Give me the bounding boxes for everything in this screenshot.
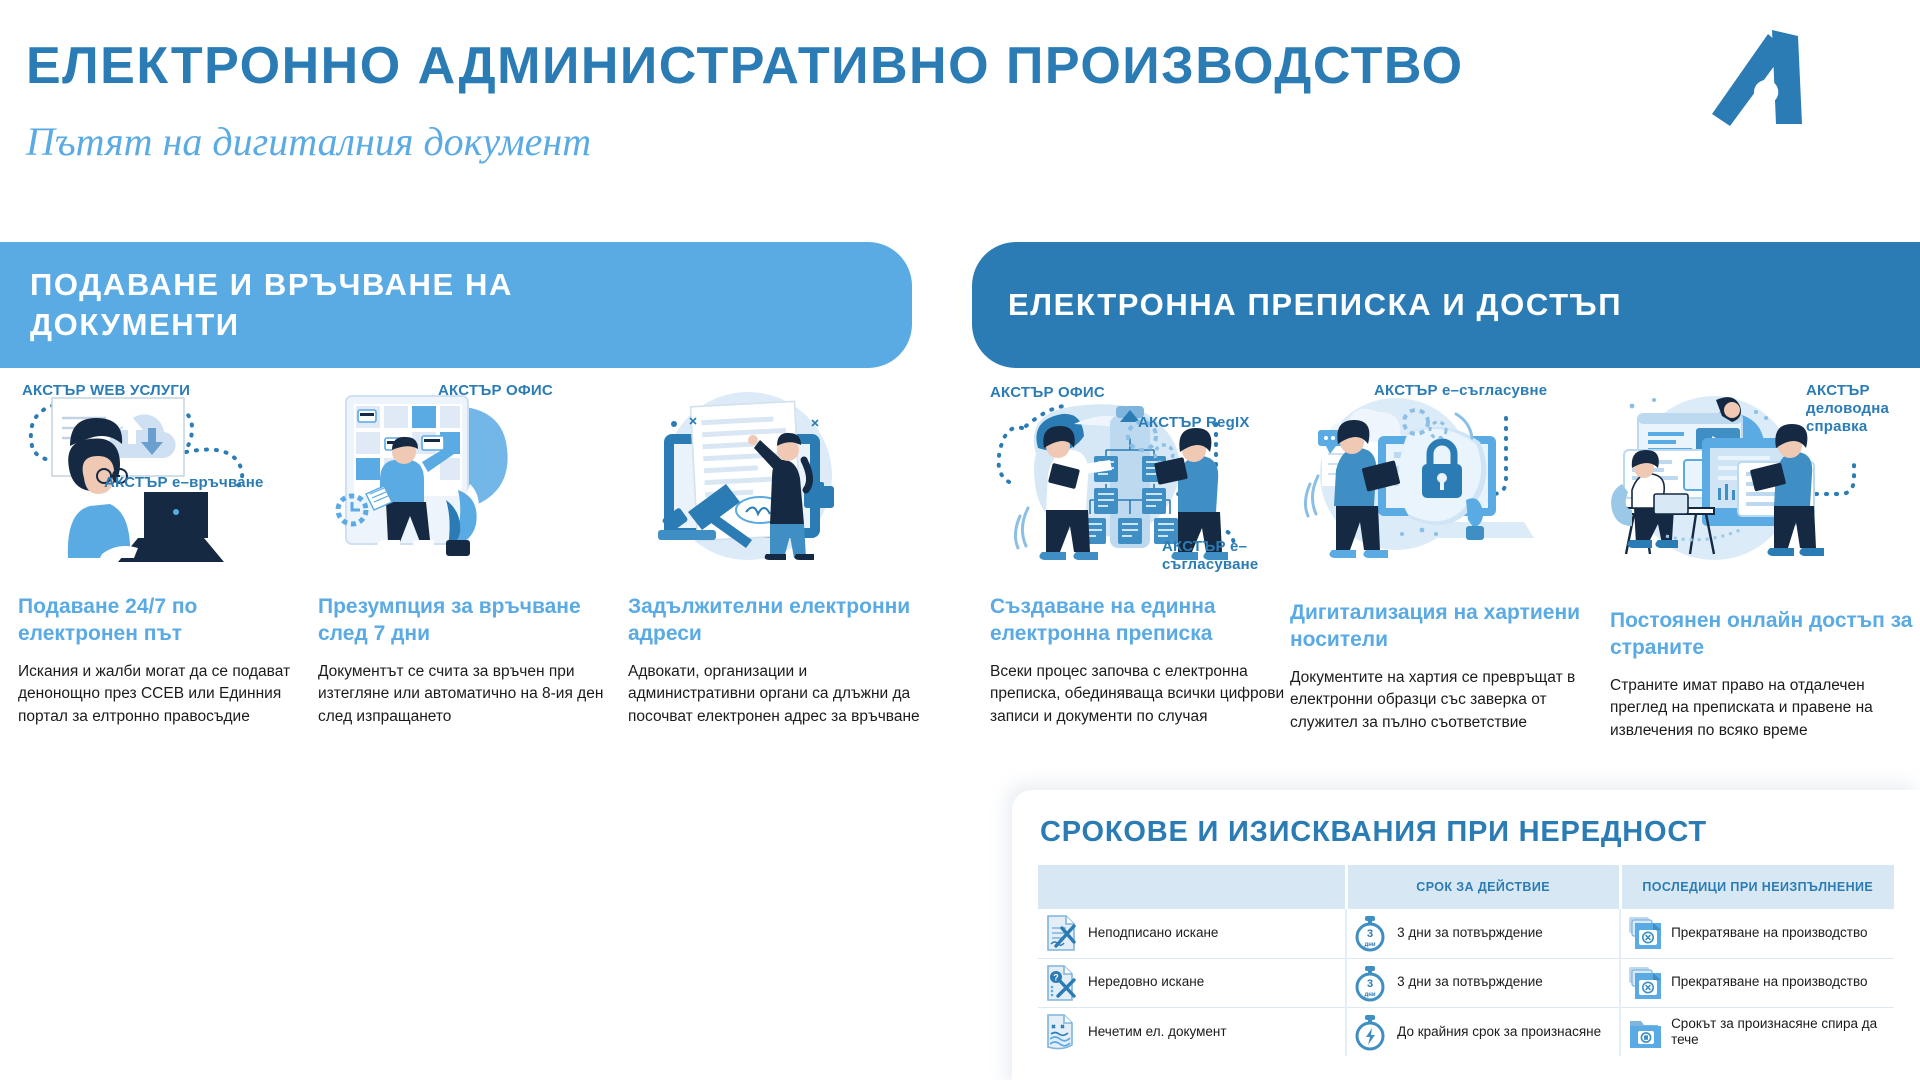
table-header-row: СРОК ЗА ДЕЙСТВИЕ ПОСЛЕДИЦИ ПРИ НЕИЗПЪЛНЕ…	[1038, 865, 1894, 909]
card-digitization-paper: АКСТЪР е–съгласувне Дигитализация на хар…	[1290, 388, 1600, 735]
col-header-deadline: СРОК ЗА ДЕЙСТВИЕ	[1346, 865, 1620, 909]
page-subtitle: Пътят на дигиталния документ	[26, 118, 591, 165]
table-heading: СРОКОВЕ И ИЗИСКВАНИЯ ПРИ НЕРЕДНОСТ	[1040, 816, 1894, 849]
monitor-document-gavel-man-illustration	[628, 388, 938, 578]
tag-acstre-web-uslugi: АКСТЪР WEB УСЛУГИ	[22, 382, 190, 400]
issue-label: Нередовно искане	[1088, 974, 1204, 990]
issue-label: Неподписано искане	[1088, 925, 1218, 941]
tag-acstre-regix: АКСТЪР RegIX	[1138, 414, 1250, 432]
section-banner-case-file: ЕЛЕКТРОННА ПРЕПИСКА И ДОСТЪП	[972, 242, 1920, 368]
deadlines-table: СРОК ЗА ДЕЙСТВИЕ ПОСЛЕДИЦИ ПРИ НЕИЗПЪЛНЕ…	[1038, 865, 1894, 1056]
card-permanent-online-access: АКСТЪР деловодна справка Постоянен онлай…	[1610, 388, 1920, 743]
tag-acstre-e-suglasuvane: АКСТЪР е–съгласуване	[1162, 538, 1282, 574]
page-header: ЕЛЕКТРОННО АДМИНИСТРАТИВНО ПРОИЗВОДСТВО …	[0, 0, 1920, 200]
table-row: ? Нередовно искане	[1038, 958, 1894, 1007]
stopwatch-3-days-icon: 3 дни	[1353, 964, 1387, 1002]
stopwatch-pause-icon	[1353, 1013, 1387, 1051]
deadlines-table-panel: СРОКОВЕ И ИЗИСКВАНИЯ ПРИ НЕРЕДНОСТ СРОК …	[1012, 790, 1920, 1080]
card-title: Презумпция за връчване след 7 дни	[318, 594, 628, 648]
card-body: Документът се счита за връчен при изтегл…	[318, 661, 628, 729]
col-header-consequence: ПОСЛЕДИЦИ ПРИ НЕИЗПЪЛНЕНИЕ	[1620, 865, 1894, 909]
card-title: Създаване на единна електронна преписка	[990, 594, 1290, 648]
consequence-label: Прекратяване на производство	[1671, 925, 1867, 941]
terminated-case-folder-icon	[1627, 964, 1661, 1002]
svg-text:дни: дни	[1365, 992, 1376, 998]
svg-text:3: 3	[1367, 978, 1373, 990]
man-laptop-shield-lock-illustration: АКСТЪР е–съгласувне	[1290, 388, 1600, 578]
unsigned-document-icon	[1044, 914, 1078, 952]
banner-line-1: ЕЛЕКТРОННА ПРЕПИСКА И ДОСТЪП	[1008, 285, 1622, 325]
card-mandatory-e-addresses: Задължителни електронни адреси Адвокати,…	[628, 388, 938, 729]
tag-acstre-ofis: АКСТЪР ОФИС	[990, 384, 1105, 402]
svg-text:дни: дни	[1365, 942, 1376, 948]
unreadable-document-icon	[1044, 1013, 1078, 1051]
tag-acstre-e-vruchvane: АКСТЪР е–връчване	[104, 474, 264, 492]
table-row: Неподписано искане 3 дни	[1038, 909, 1894, 958]
card-body: Искания и жалби могат да се подават дено…	[18, 661, 318, 729]
office-desk-screens-remote-access-illustration: АКСТЪР деловодна справка	[1610, 388, 1920, 578]
deadline-label: До крайния срок за произнасяне	[1397, 1024, 1601, 1040]
card-presumption-7-days: АКСТЪР ОФИС Презумпция за връчване след …	[318, 388, 628, 729]
deadline-label: 3 дни за потвърждение	[1397, 974, 1543, 990]
infographic-page: ЕЛЕКТРОННО АДМИНИСТРАТИВНО ПРОИЗВОДСТВО …	[0, 0, 1920, 1080]
consequence-label: Срокът за произнасяне спира да тече	[1671, 1016, 1888, 1048]
card-title: Дигитализация на хартиени носители	[1290, 600, 1600, 654]
tag-acstre-ofis: АКСТЪР ОФИС	[438, 382, 553, 400]
paused-timer-folder-icon	[1627, 1013, 1661, 1051]
irregular-request-question-icon: ?	[1044, 964, 1078, 1002]
svg-text:3: 3	[1367, 928, 1373, 940]
stopwatch-3-days-icon: 3 дни	[1353, 914, 1387, 952]
woman-at-laptop-cloud-upload-illustration: АКСТЪР WEB УСЛУГИ АКСТЪР е–връчване	[18, 388, 318, 578]
tag-acstre-e-suglasuvne: АКСТЪР е–съгласувне	[1374, 382, 1547, 400]
issue-label: Нечетим ел. документ	[1088, 1024, 1227, 1040]
banner-line-2: ДОКУМЕНТИ	[30, 305, 513, 345]
two-people-flowchart-server-illustration: АКСТЪР ОФИС АКСТЪР RegIX АКСТЪР е–съглас…	[990, 388, 1290, 584]
section-banner-submission: ПОДАВАНЕ И ВРЪЧВАНЕ НА ДОКУМЕНТИ	[0, 242, 912, 368]
banner-line-1: ПОДАВАНЕ И ВРЪЧВАНЕ НА	[30, 265, 513, 305]
card-submission-24-7: АКСТЪР WEB УСЛУГИ АКСТЪР е–връчване Пода…	[18, 388, 318, 729]
card-body: Страните имат право на отдалечен преглед…	[1610, 675, 1920, 743]
card-title: Задължителни електронни адреси	[628, 594, 938, 648]
deadline-label: 3 дни за потвърждение	[1397, 925, 1543, 941]
svg-text:?: ?	[1053, 972, 1059, 982]
card-body: Документите на хартия се превръщат в еле…	[1290, 667, 1600, 735]
consequence-label: Прекратяване на производство	[1671, 974, 1867, 990]
terminated-case-folder-icon	[1627, 914, 1661, 952]
card-body: Адвокати, организации и административни …	[628, 661, 938, 729]
card-body: Всеки процес започва с електронна препис…	[990, 661, 1290, 729]
table-row: Нечетим ел. документ	[1038, 1007, 1894, 1056]
card-title: Подаване 24/7 по електронен път	[18, 594, 318, 648]
card-title: Постоянен онлайн достъп за страните	[1610, 608, 1920, 662]
card-unified-e-case-file: АКСТЪР ОФИС АКСТЪР RegIX АКСТЪР е–съглас…	[990, 388, 1290, 729]
man-at-calendar-board-illustration: АКСТЪР ОФИС	[318, 388, 628, 578]
acstre-a-logo-icon	[1710, 28, 1814, 128]
page-title: ЕЛЕКТРОННО АДМИНИСТРАТИВНО ПРОИЗВОДСТВО	[26, 36, 1464, 96]
tag-acstre-delovodna-spravka: АКСТЪР деловодна справка	[1806, 382, 1898, 436]
col-header-issue	[1038, 865, 1346, 909]
